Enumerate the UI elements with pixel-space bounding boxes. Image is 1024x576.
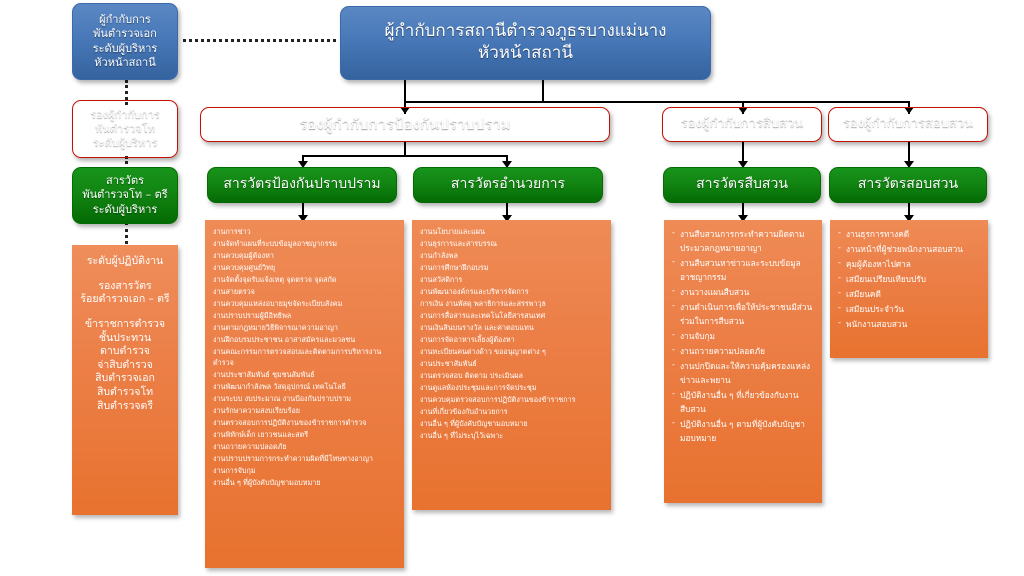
task-item: งานสายตรวจ xyxy=(213,287,396,298)
task-item: งานตรวจสอบ ติดตาม ประเมินผล xyxy=(420,371,603,382)
deputy-prevention-label: รองผู้กำกับการป้องกันปราบปราม xyxy=(207,115,603,134)
operational-group-1: รองสารวัตร ร้อยตำรวจเอก – ตรี xyxy=(76,280,174,307)
task-list-investigation: งานสืบสวนการกระทำความผิดตามประมวลกฎหมายอ… xyxy=(672,227,814,445)
operational-g2-item: สิบตำรวจตรี xyxy=(76,400,174,414)
node-division-administration[interactable]: สารวัตรอำนวยการ xyxy=(413,167,603,203)
task-item: งานถวายความปลอดภัย xyxy=(213,442,396,453)
task-item: งานสืบสวนการกระทำความผิดตามประมวลกฎหมายอ… xyxy=(672,227,814,255)
station-title-line1: ผู้กำกับการสถานีตำรวจภูธรบางแม่นาง xyxy=(347,21,704,43)
deputy-inquiry-label: รองผู้กำกับการสอบสวน xyxy=(835,116,981,133)
connector-trunk-left xyxy=(404,79,406,102)
task-item: งานปราบปรามผู้มีอิทธิพล xyxy=(213,311,396,322)
node-division-inquiry[interactable]: สารวัตรสอบสวน xyxy=(829,167,987,203)
panel-tasks-administration: งานนโยบายและแผน งานธุรการและสารบรรณ งานก… xyxy=(412,220,611,510)
task-list-inquiry: งานธุรการทางคดี งานหน้าที่ผู้ช่วยพนักงาน… xyxy=(838,227,980,331)
task-item: งานตามกฎหมายวิธีพิจารณาความอาญา xyxy=(213,323,396,334)
task-item: งานการศึกษาฝึกอบรม xyxy=(420,263,603,274)
operational-g2-item: ข้าราชการตำรวจ xyxy=(76,318,174,332)
rank-deputy-line1: รองผู้กำกับการ xyxy=(79,108,171,122)
node-station-superintendent[interactable]: ผู้กำกับการสถานีตำรวจภูธรบางแม่นาง หัวหน… xyxy=(340,6,711,80)
task-item: การเงิน งานพัสดุ พลาธิการและสรรพาวุธ xyxy=(420,299,603,310)
task-item: งานควบคุมแหล่งอบายมุขจัดระเบียบสังคม xyxy=(213,299,396,310)
task-item: งานอื่น ๆ ที่ผู้บังคับบัญชามอบหมาย xyxy=(213,478,396,489)
org-chart-canvas: ผู้กำกับการสถานีตำรวจภูธรบางแม่นาง หัวหน… xyxy=(0,0,1024,576)
task-item: พนักงานสอบสวน xyxy=(838,317,980,331)
division-administration-label: สารวัตรอำนวยการ xyxy=(420,176,596,194)
node-deputy-investigation[interactable]: รองผู้กำกับการสืบสวน xyxy=(662,107,822,142)
rank-inspector-line1: สารวัตร xyxy=(79,174,171,188)
task-item: งานหน้าที่ผู้ช่วยพนักงานสอบสวน xyxy=(838,242,980,256)
task-item: งานประชาสัมพันธ์ ชุมชนสัมพันธ์ xyxy=(213,370,396,381)
rank-deputy-line3: ระดับผู้บริหาร xyxy=(79,136,171,150)
task-item: งานระบบ งบประมาณ งานป้องกันปราบปราม xyxy=(213,394,396,405)
task-item: เสมียนเปรียบเทียบปรับ xyxy=(838,272,980,286)
division-investigation-label: สารวัตรสืบสวน xyxy=(670,176,814,194)
node-rank-superintendent[interactable]: ผู้กำกับการ พันตำรวจเอก ระดับผู้บริหาร ห… xyxy=(72,3,178,80)
task-item: งานตรวจสอบการปฏิบัติงานของข้าราชการตำรวจ xyxy=(213,418,396,429)
panel-operational-ranks: ระดับผู้ปฏิบัติงาน รองสารวัตร ร้อยตำรวจเ… xyxy=(72,245,178,515)
task-item: งานพัฒนากำลังพล วัสดุอุปกรณ์ เทคโนโลยี xyxy=(213,382,396,393)
task-item: งานสืบสวนหาข่าวและระบบข้อมูลอาชญากรรม xyxy=(672,256,814,284)
node-deputy-prevention[interactable]: รองผู้กำกับการป้องกันปราบปราม xyxy=(200,107,610,142)
rank-superintendent-line3: ระดับผู้บริหาร xyxy=(79,42,171,56)
operational-g2-item: ชั้นประทวน xyxy=(76,332,174,346)
task-item: งานดูแลห้องประชุมและการจัดประชุม xyxy=(420,383,603,394)
task-item: งานปกปิดและให้ความคุ้มครองแหล่งข่าวและพย… xyxy=(672,359,814,387)
node-rank-deputy-superintendent[interactable]: รองผู้กำกับการ พันตำรวจโท ระดับผู้บริหาร xyxy=(72,100,178,158)
rank-inspector-line2: พันตำรวจโท – ตรี xyxy=(79,188,171,202)
task-item: งานดำเนินการเพื่อให้ประชาชนมีส่วนร่วมในก… xyxy=(672,300,814,328)
station-title-line2: หัวหน้าสถานี xyxy=(347,43,704,65)
task-item: งานวางแผนสืบสวน xyxy=(672,285,814,299)
node-deputy-inquiry[interactable]: รองผู้กำกับการสอบสวน xyxy=(828,107,988,142)
connector-prevention-bus xyxy=(302,155,506,157)
operational-g1-item: รองสารวัตร xyxy=(76,280,174,294)
task-item: งานจัดทำแผนที่ระบบข้อมูลอาชญากรรม xyxy=(213,239,396,250)
connector-dotted-title-to-rank xyxy=(183,39,336,42)
task-item: งานควบคุมตรวจสอบการปฏิบัติงานของข้าราชกา… xyxy=(420,395,603,406)
task-item: งานคณะกรรมการตรวจสอบและติดตามการบริหารงา… xyxy=(213,347,396,369)
task-item: คุมผู้ต้องหาไปศาล xyxy=(838,257,980,271)
division-prevention-label: สารวัตรป้องกันปราบปราม xyxy=(214,176,390,194)
panel-tasks-prevention: งานการข่าว งานจัดทำแผนที่ระบบข้อมูลอาชญา… xyxy=(205,220,404,568)
task-item: งานธุรการและสารบรรณ xyxy=(420,239,603,250)
operational-heading: ระดับผู้ปฏิบัติงาน xyxy=(76,255,174,269)
division-inquiry-label: สารวัตรสอบสวน xyxy=(836,176,980,194)
connector-bus-top xyxy=(404,101,909,103)
operational-g2-item: สิบตำรวจเอก xyxy=(76,372,174,386)
task-item: งานพัฒนาองค์กรและบริหารจัดการ xyxy=(420,287,603,298)
task-item: งานกำลังพล xyxy=(420,251,603,262)
rank-superintendent-line2: พันตำรวจเอก xyxy=(79,27,171,41)
operational-group-2: ข้าราชการตำรวจ ชั้นประทวน ดาบตำรวจ จ่าสิ… xyxy=(76,318,174,413)
operational-g1-item: ร้อยตำรวจเอก – ตรี xyxy=(76,293,174,307)
operational-g2-item: จ่าสิบตำรวจ xyxy=(76,359,174,373)
task-item: งานสวัสดิการ xyxy=(420,275,603,286)
task-item: เสมียนคดี xyxy=(838,287,980,301)
task-item: งานอื่น ๆ ที่ไม่ระบุไว้เฉพาะ xyxy=(420,431,603,442)
task-item: งานจัดตั้งจุดรับแจ้งเหตุ จุดตรวจ จุดสกัด xyxy=(213,275,396,286)
rank-superintendent-line1: ผู้กำกับการ xyxy=(79,13,171,27)
task-item: งานถวายความปลอดภัย xyxy=(672,344,814,358)
task-item: งานควบคุมศูนย์วิทยุ xyxy=(213,263,396,274)
connector-prevention-stem xyxy=(404,142,406,156)
task-item: งานอื่น ๆ ที่ผู้บังคับบัญชามอบหมาย xyxy=(420,419,603,430)
task-item: ปฏิบัติงานอื่น ๆ ตามที่ผู้บังคับบัญชามอบ… xyxy=(672,417,814,445)
connector-dotted-rank-3-4 xyxy=(125,222,128,244)
operational-heading-group: ระดับผู้ปฏิบัติงาน xyxy=(76,255,174,269)
task-item: งานการข่าว xyxy=(213,227,396,238)
task-item: งานควบคุมผู้ต้องหา xyxy=(213,251,396,262)
node-rank-inspector[interactable]: สารวัตร พันตำรวจโท – ตรี ระดับผู้บริหาร xyxy=(72,167,178,224)
panel-tasks-investigation: งานสืบสวนการกระทำความผิดตามประมวลกฎหมายอ… xyxy=(664,220,822,503)
task-list-administration: งานนโยบายและแผน งานธุรการและสารบรรณ งานก… xyxy=(420,227,603,442)
rank-inspector-line3: ระดับผู้บริหาร xyxy=(79,203,171,217)
task-item: งานปราบปรามการกระทำความผิดที่มีโทษทางอาญ… xyxy=(213,454,396,465)
task-item: งานการจัดอาหารเลี้ยงผู้ต้องหา xyxy=(420,335,603,346)
deputy-investigation-label: รองผู้กำกับการสืบสวน xyxy=(669,116,815,133)
rank-deputy-line2: พันตำรวจโท xyxy=(79,122,171,136)
task-item: ปฏิบัติงานอื่น ๆ ที่เกี่ยวข้องกับงานสืบส… xyxy=(672,388,814,416)
task-item: งานนโยบายและแผน xyxy=(420,227,603,238)
task-item: งานประชาสัมพันธ์ xyxy=(420,359,603,370)
node-division-investigation[interactable]: สารวัตรสืบสวน xyxy=(663,167,821,203)
task-item: งานการจับกุม xyxy=(213,466,396,477)
task-item: เสมียนประจำวัน xyxy=(838,302,980,316)
task-item: งานรักษาความสงบเรียบร้อย xyxy=(213,406,396,417)
task-list-prevention: งานการข่าว งานจัดทำแผนที่ระบบข้อมูลอาชญา… xyxy=(213,227,396,489)
connector-trunk-right xyxy=(542,79,544,102)
operational-g2-item: สิบตำรวจโท xyxy=(76,386,174,400)
panel-tasks-inquiry: งานธุรการทางคดี งานหน้าที่ผู้ช่วยพนักงาน… xyxy=(830,220,988,358)
node-division-prevention[interactable]: สารวัตรป้องกันปราบปราม xyxy=(207,167,397,203)
task-item: งานเงินสินบนรางวัล และค่าตอบแทน xyxy=(420,323,603,334)
operational-g2-item: ดาบตำรวจ xyxy=(76,345,174,359)
task-item: งานจับกุม xyxy=(672,329,814,343)
task-item: งานทะเบียนคนต่างด้าว ขออนุญาตต่าง ๆ xyxy=(420,347,603,358)
rank-superintendent-line4: หัวหน้าสถานี xyxy=(79,56,171,70)
task-item: งานพิทักษ์เด็ก เยาวชนและสตรี xyxy=(213,430,396,441)
task-item: งานธุรการทางคดี xyxy=(838,227,980,241)
task-item: งานฝึกอบรมประชาชน อาสาสมัครและมวลชน xyxy=(213,335,396,346)
task-item: งานที่เกี่ยวข้องกับอำนวยการ xyxy=(420,407,603,418)
task-item: งานการสื่อสารและเทคโนโลยีสารสนเทศ xyxy=(420,311,603,322)
